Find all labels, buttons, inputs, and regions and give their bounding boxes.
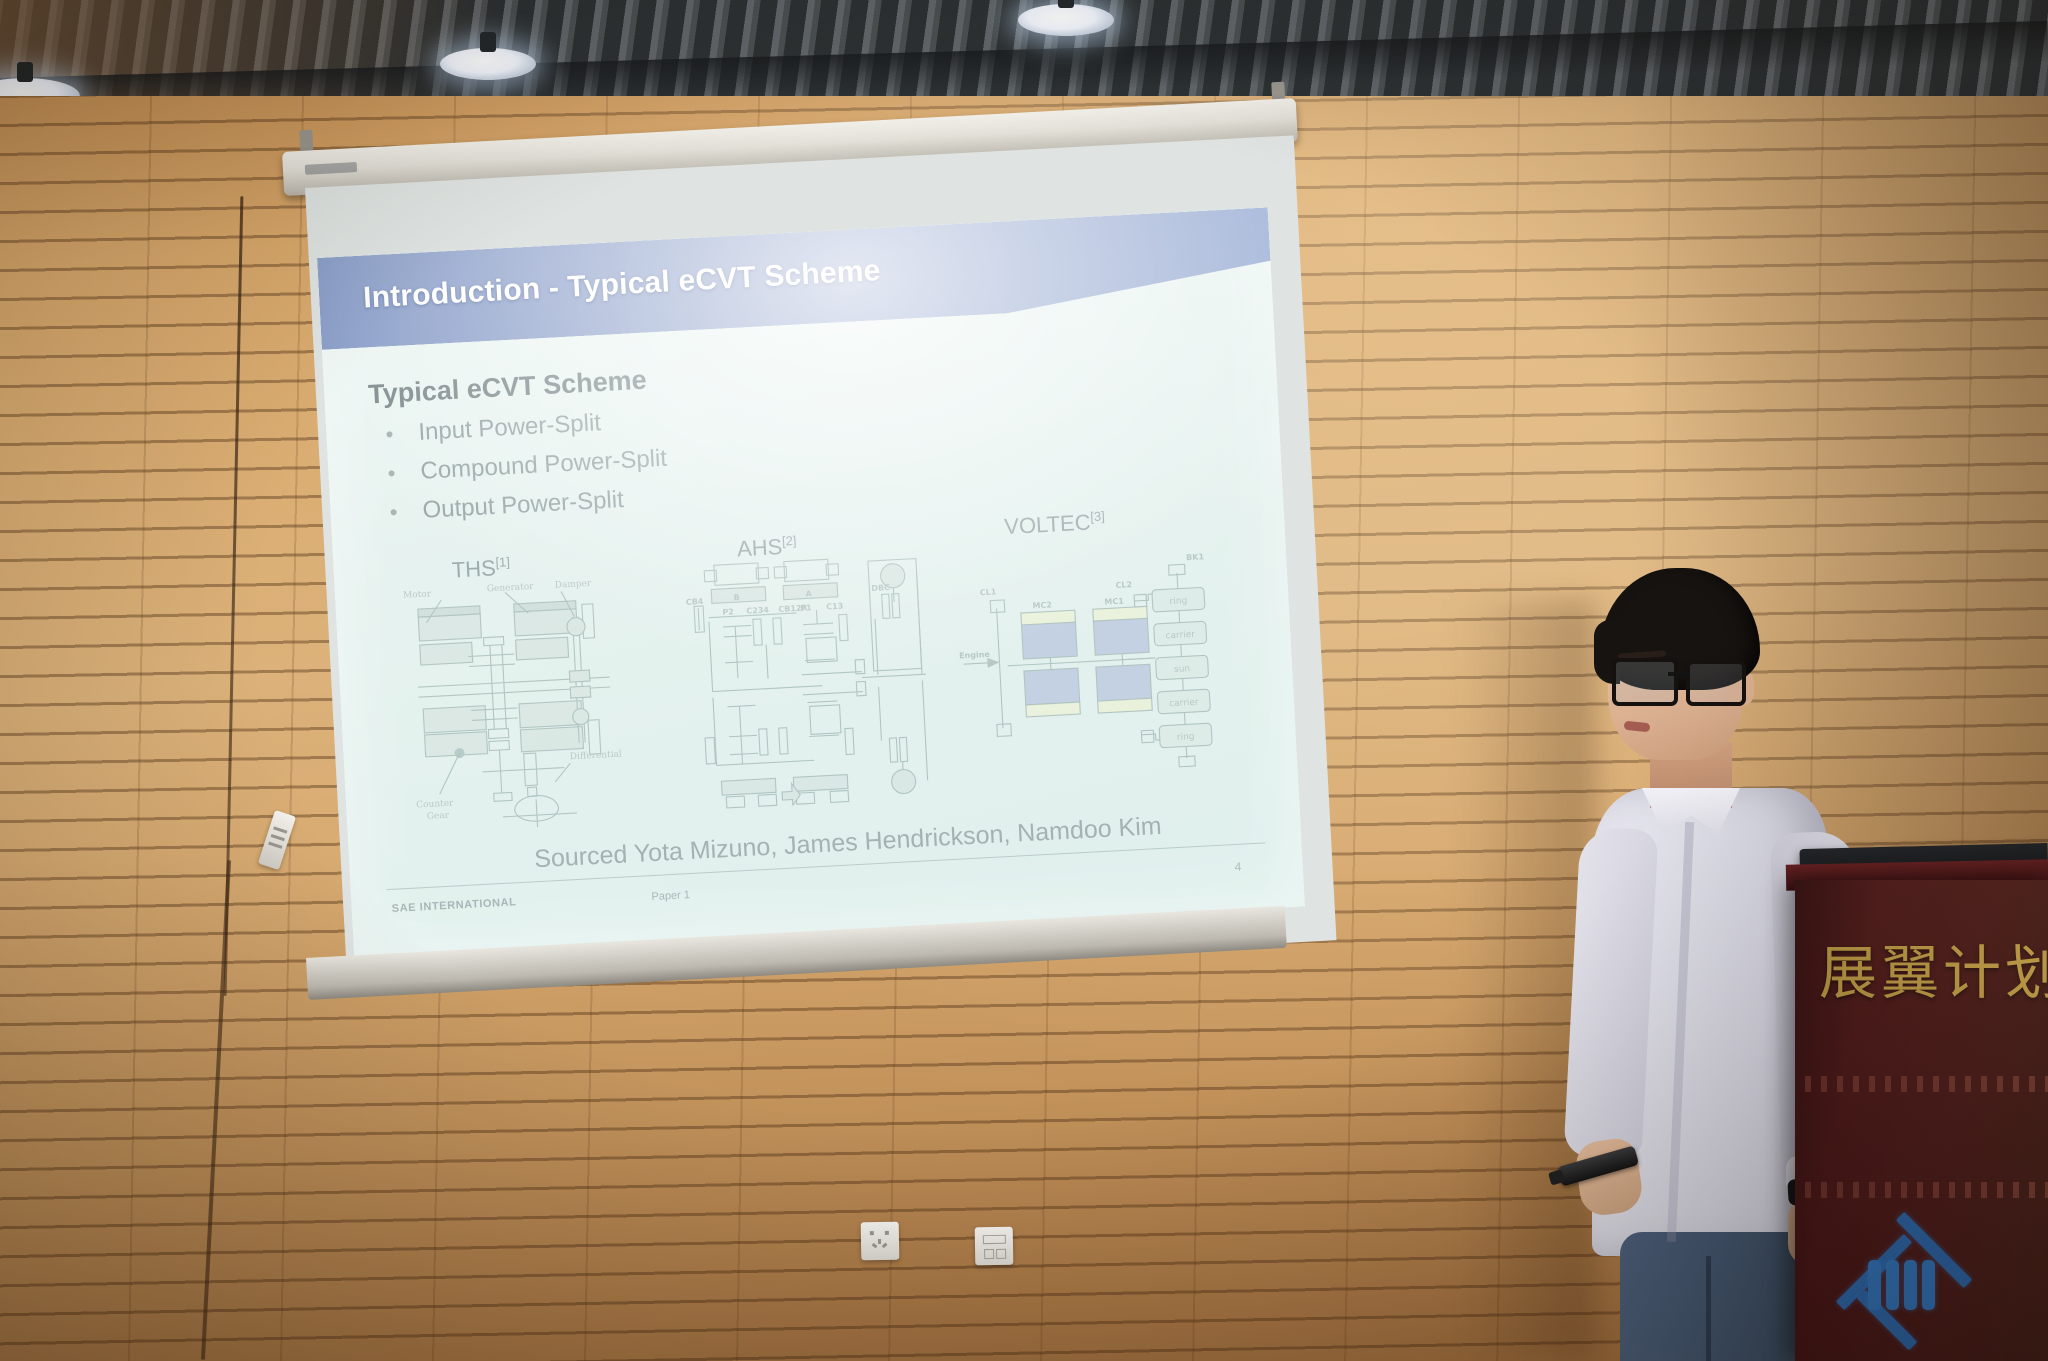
- emblem-bar: [1868, 1260, 1881, 1310]
- svg-text:Counter: Counter: [416, 798, 454, 810]
- podium-emblem: [1866, 1252, 1986, 1342]
- glasses-right-lens: [1686, 660, 1746, 706]
- diagram-name: VOLTEC: [1004, 510, 1092, 540]
- svg-text:CL1: CL1: [980, 587, 997, 597]
- screenshot-root: Introduction - Typical eCVT Scheme Typic…: [0, 0, 2048, 1361]
- svg-text:ring: ring: [1169, 596, 1187, 607]
- remote-button: [271, 834, 285, 841]
- ths-schematic-diagram: Motor Generator Damper Counter Gear Diff…: [394, 571, 657, 834]
- diagram-ref: [3]: [1090, 508, 1105, 524]
- av-port: [983, 1235, 1006, 1244]
- emblem-bar: [1886, 1260, 1899, 1310]
- svg-text:P1: P1: [800, 603, 812, 613]
- svg-text:sun: sun: [1174, 664, 1191, 675]
- light-stem: [1058, 0, 1074, 8]
- light-stem: [480, 32, 496, 52]
- glasses-left-lens: [1612, 658, 1678, 706]
- screen-brand-logo: [305, 162, 357, 175]
- svg-text:carrier: carrier: [1169, 698, 1199, 710]
- svg-text:Generator: Generator: [487, 582, 535, 595]
- svg-text:MC2: MC2: [1032, 600, 1052, 610]
- remote-button: [268, 842, 282, 849]
- outlet-slot: [870, 1231, 874, 1235]
- svg-text:B: B: [733, 593, 740, 602]
- slide-section-heading: Typical eCVT Scheme: [368, 365, 648, 411]
- outlet-slot: [878, 1239, 881, 1244]
- outlet-slot: [882, 1243, 888, 1249]
- emblem-bar: [1922, 1260, 1935, 1310]
- svg-text:Motor: Motor: [403, 589, 432, 601]
- slide-footer-left: SAE INTERNATIONAL: [391, 896, 516, 915]
- svg-text:Engine: Engine: [959, 650, 991, 661]
- av-port-plate: [975, 1227, 1014, 1266]
- svg-text:carrier: carrier: [1165, 630, 1195, 642]
- glasses-bridge: [1668, 672, 1690, 676]
- svg-text:Gear: Gear: [427, 811, 450, 822]
- ceiling-light-3: [1018, 4, 1114, 36]
- slide-page-number: 4: [1234, 860, 1241, 874]
- svg-text:DBC: DBC: [871, 583, 890, 593]
- light-stem: [17, 62, 33, 82]
- svg-text:BK1: BK1: [1186, 552, 1205, 562]
- svg-text:MC1: MC1: [1104, 597, 1124, 607]
- svg-text:ring: ring: [1177, 732, 1195, 743]
- diagram-ref: [1]: [495, 554, 510, 570]
- remote-button: [273, 826, 287, 833]
- svg-text:P2: P2: [722, 607, 734, 617]
- slide-bullet-list: Input Power-Split Compound Power-Split O…: [370, 388, 995, 538]
- svg-text:Differential: Differential: [570, 749, 623, 762]
- voltec-schematic-diagram: CL1 CL2 MC2 MC1 BK1 Engine ring carrier …: [954, 541, 1216, 784]
- slide-footer-center: Paper 1: [651, 889, 690, 903]
- svg-text:C13: C13: [826, 601, 843, 611]
- diagram-ref: [2]: [782, 533, 797, 549]
- projected-slide: Introduction - Typical eCVT Scheme Typic…: [317, 207, 1305, 957]
- ahs-schematic-diagram: CB4 P2 C234 CB12R P1 C13 B A DBC: [684, 548, 937, 810]
- outlet-slot: [885, 1231, 889, 1235]
- svg-text:Damper: Damper: [555, 579, 593, 591]
- power-outlet: [861, 1222, 900, 1261]
- svg-text:C234: C234: [746, 605, 769, 615]
- emblem-bar: [1904, 1260, 1917, 1310]
- av-port: [984, 1249, 994, 1259]
- svg-text:CL2: CL2: [1115, 580, 1132, 590]
- svg-text:CB4: CB4: [686, 597, 704, 607]
- diagram-heading-voltec: VOLTEC[3]: [1004, 508, 1106, 540]
- ceiling-light-2: [440, 48, 536, 80]
- av-port: [996, 1249, 1006, 1259]
- outlet-slot: [872, 1243, 878, 1248]
